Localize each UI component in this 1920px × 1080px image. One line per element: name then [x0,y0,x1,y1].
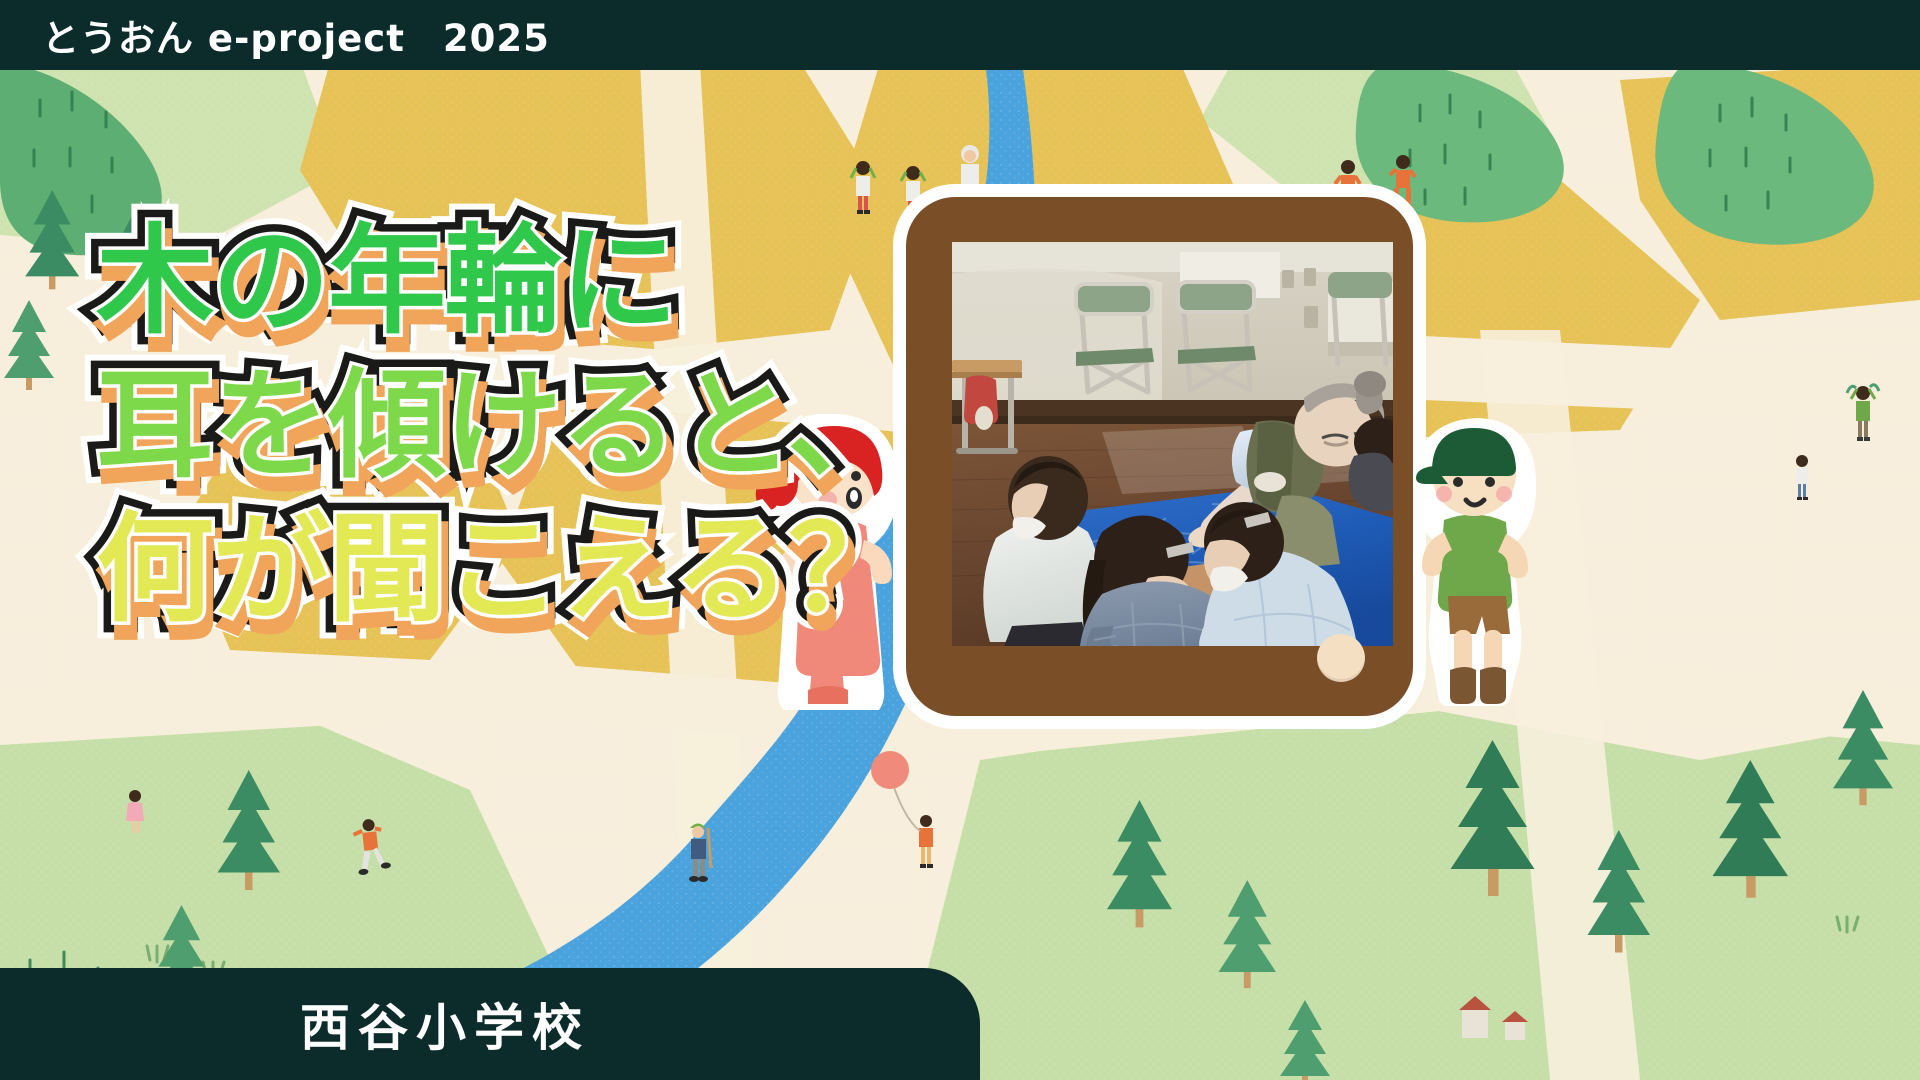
header-bar: とうおん e-project 2025 [0,0,1920,70]
school-name: 西谷小学校 [0,988,590,1060]
headline-line-3-wrap: 何が聞こえる？ 何が聞こえる？ 何が聞こえる？ 何が聞こえる？ 何が聞こえる？ … [96,510,904,642]
photo-image [952,242,1393,646]
headline-line-2: 耳を傾けると、 耳を傾けると、 耳を傾けると、 耳を傾けると、 耳を傾けると、 … [96,366,904,484]
headline-line-2-fill: 耳を傾けると、 [96,366,903,484]
headline-line-2-wrap: 耳を傾けると、 耳を傾けると、 耳を傾けると、 耳を傾けると、 耳を傾けると、 … [96,366,904,498]
headline-line-1-fill: 木の年輪に [96,222,676,340]
headline-line-3-fill: 何が聞こえる？ [96,510,904,628]
photo-tv-frame [893,184,1426,729]
headline-line-3: 何が聞こえる？ 何が聞こえる？ 何が聞こえる？ 何が聞こえる？ 何が聞こえる？ … [96,510,904,628]
headline-line-1-wrap: 木の年輪に 木の年輪に 木の年輪に 木の年輪に 木の年輪に 木の年輪に [96,222,904,354]
tv-knob-icon[interactable] [1317,634,1365,682]
footer-bar: 西谷小学校 [0,968,980,1080]
headline-line-1: 木の年輪に 木の年輪に 木の年輪に 木の年輪に 木の年輪に 木の年輪に [96,222,904,340]
sticker-boy-with-green-cap [1400,408,1550,708]
headline-block: 木の年輪に 木の年輪に 木の年輪に 木の年輪に 木の年輪に 木の年輪に 耳を傾け… [96,222,904,642]
page-title: とうおん e-project 2025 [0,8,550,62]
